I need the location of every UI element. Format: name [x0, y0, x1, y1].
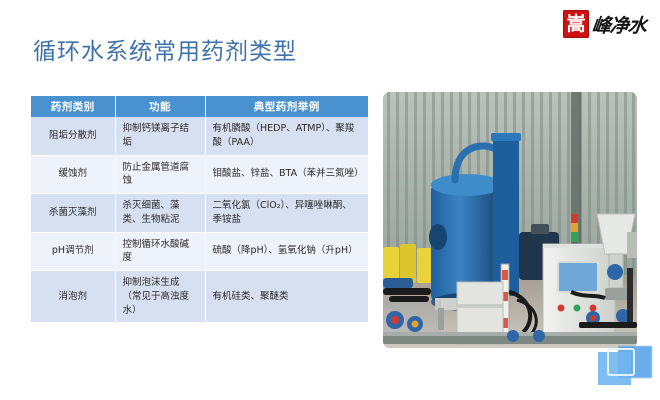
cell-category: 缓蚀剂 [31, 155, 115, 194]
cell-category: 消泡剂 [31, 271, 115, 323]
table-row: 阻垢分散剂 抑制钙镁离子结垢 有机膦酸（HEDP、ATMP）、聚羧酸（PAA） [31, 117, 368, 155]
decorative-squares [596, 344, 652, 388]
table-row: 杀菌灭藻剂 杀灭细菌、藻类、生物粘泥 二氧化氯（ClO₂）、异噻唑啉酮、季铵盐 [31, 194, 368, 233]
table-row: 消泡剂 抑制泡沫生成（常见于高浊度水） 有机硅类、聚醚类 [31, 271, 368, 323]
cell-examples: 二氧化氯（ClO₂）、异噻唑啉酮、季铵盐 [205, 194, 368, 233]
decorative-square-outline [607, 348, 635, 376]
brand-wordmark: 峰净水 [591, 11, 648, 38]
cell-examples: 钼酸盐、锌盐、BTA（苯并三氮唑） [205, 155, 368, 194]
equipment-photo [383, 92, 637, 348]
cell-examples: 硫酸（降pH）、氢氧化钠（升pH） [205, 232, 368, 271]
table-header-row: 药剂类别 功能 典型药剂举例 [31, 96, 368, 117]
cell-category: 阻垢分散剂 [31, 117, 115, 155]
cell-function: 抑制钙镁离子结垢 [115, 117, 205, 155]
cell-function: 防止金属管道腐蚀 [115, 155, 205, 194]
table-row: pH调节剂 控制循环水酸碱度 硫酸（降pH）、氢氧化钠（升pH） [31, 232, 368, 271]
page-title: 循环水系统常用药剂类型 [33, 32, 297, 66]
column-header-function: 功能 [115, 96, 205, 117]
equipment-photo-illustration [383, 92, 637, 348]
cell-examples: 有机硅类、聚醚类 [205, 271, 368, 323]
column-header-category: 药剂类别 [31, 96, 115, 117]
cell-function: 抑制泡沫生成（常见于高浊度水） [115, 271, 205, 323]
cell-function: 控制循环水酸碱度 [115, 232, 205, 271]
column-header-examples: 典型药剂举例 [205, 96, 368, 117]
table-row: 缓蚀剂 防止金属管道腐蚀 钼酸盐、锌盐、BTA（苯并三氮唑） [31, 155, 368, 194]
brand-logo: 嵩 峰净水 [563, 8, 646, 40]
cell-category: pH调节剂 [31, 232, 115, 271]
seal-icon: 嵩 [563, 10, 589, 38]
cell-examples: 有机膦酸（HEDP、ATMP）、聚羧酸（PAA） [205, 117, 368, 155]
chemical-types-table: 药剂类别 功能 典型药剂举例 阻垢分散剂 抑制钙镁离子结垢 有机膦酸（HEDP、… [31, 96, 368, 323]
cell-function: 杀灭细菌、藻类、生物粘泥 [115, 194, 205, 233]
cell-category: 杀菌灭藻剂 [31, 194, 115, 233]
